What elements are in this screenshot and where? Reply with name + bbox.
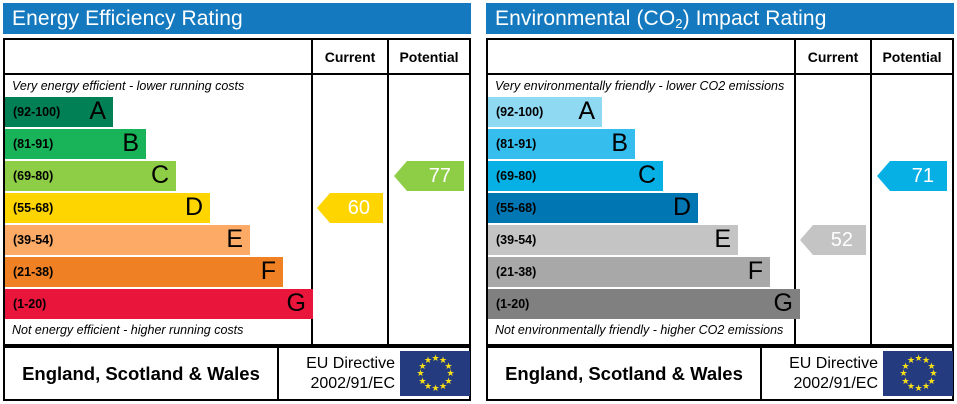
band-range-label: (55-68) — [13, 193, 53, 223]
column-divider — [387, 40, 389, 344]
eu-flag-star: ★ — [915, 385, 922, 392]
band-letter-label: G — [287, 289, 306, 319]
eu-flag-star: ★ — [432, 385, 439, 392]
eu-flag-star: ★ — [417, 370, 424, 377]
band-letter-label: E — [226, 225, 243, 255]
band-bar-d: (55-68)D — [488, 193, 698, 223]
column-header-current: Current — [313, 40, 387, 75]
band-bar-g: (1-20)G — [488, 289, 800, 319]
column-header-potential: Potential — [872, 40, 952, 75]
band-range-label: (39-54) — [13, 225, 53, 255]
band-bar-a: (92-100)A — [488, 97, 602, 127]
caption-top: Very energy efficient - lower running co… — [12, 79, 244, 93]
band-bar-e: (39-54)E — [488, 225, 738, 255]
footer-divider — [760, 348, 762, 399]
eu-flag: ★★★★★★★★★★★★ — [400, 351, 470, 396]
band-range-label: (21-38) — [496, 257, 536, 287]
potential-rating-arrow: 77 — [394, 161, 464, 191]
eu-flag-star: ★ — [922, 383, 929, 390]
current-rating-arrow: 60 — [317, 193, 383, 223]
footer-region-label: England, Scotland & Wales — [488, 348, 760, 399]
epc-chart-page: Energy Efficiency RatingCurrentPotential… — [0, 0, 957, 404]
potential-rating-arrow: 71 — [877, 161, 947, 191]
chart-title-epc: Energy Efficiency Rating — [3, 3, 471, 34]
band-range-label: (39-54) — [496, 225, 536, 255]
band-letter-label: A — [89, 97, 106, 127]
eu-flag-star: ★ — [439, 383, 446, 390]
rating-chart-co2: Environmental (CO2) Impact RatingCurrent… — [483, 0, 957, 404]
eu-flag-star: ★ — [907, 357, 914, 364]
band-range-label: (92-100) — [496, 97, 543, 127]
band-range-label: (81-91) — [496, 129, 536, 159]
rating-table-epc: CurrentPotentialVery energy efficient - … — [3, 38, 471, 346]
band-letter-label: B — [611, 129, 628, 159]
band-bar-e: (39-54)E — [5, 225, 250, 255]
band-range-label: (21-38) — [13, 257, 53, 287]
eu-flag-star: ★ — [915, 355, 922, 362]
column-header-potential: Potential — [389, 40, 469, 75]
eu-flag-star: ★ — [424, 357, 431, 364]
band-bar-f: (21-38)F — [5, 257, 283, 287]
footer-region-label: England, Scotland & Wales — [5, 348, 277, 399]
band-letter-label: F — [748, 257, 763, 287]
band-bars: (92-100)A(81-91)B(69-80)C(55-68)D(39-54)… — [5, 97, 309, 321]
band-letter-label: A — [578, 97, 595, 127]
band-bar-a: (92-100)A — [5, 97, 113, 127]
band-range-label: (69-80) — [13, 161, 53, 191]
eu-flag-star: ★ — [902, 378, 909, 385]
band-range-label: (69-80) — [496, 161, 536, 191]
directive-line-1: EU Directive — [306, 354, 395, 374]
band-bar-c: (69-80)C — [5, 161, 176, 191]
band-letter-label: B — [122, 129, 139, 159]
eu-flag-star: ★ — [900, 370, 907, 377]
caption-top: Very environmentally friendly - lower CO… — [495, 79, 784, 93]
column-divider — [870, 40, 872, 344]
rating-table-co2: CurrentPotentialVery environmentally fri… — [486, 38, 954, 346]
footer-divider — [277, 348, 279, 399]
caption-bottom: Not environmentally friendly - higher CO… — [495, 323, 783, 337]
band-letter-label: C — [638, 161, 656, 191]
directive-line-2: 2002/91/EC — [310, 374, 395, 394]
band-range-label: (81-91) — [13, 129, 53, 159]
band-letter-label: D — [185, 193, 203, 223]
band-bar-g: (1-20)G — [5, 289, 313, 319]
band-bar-b: (81-91)B — [488, 129, 635, 159]
band-range-label: (55-68) — [496, 193, 536, 223]
caption-bottom: Not energy efficient - higher running co… — [12, 323, 243, 337]
band-range-label: (1-20) — [496, 289, 529, 319]
directive-line-2: 2002/91/EC — [793, 374, 878, 394]
chart-footer: England, Scotland & WalesEU Directive200… — [486, 346, 954, 401]
rating-chart-epc: Energy Efficiency RatingCurrentPotential… — [0, 0, 474, 404]
band-bar-c: (69-80)C — [488, 161, 663, 191]
current-rating-arrow: 52 — [800, 225, 866, 255]
eu-flag-star: ★ — [432, 355, 439, 362]
band-bars: (92-100)A(81-91)B(69-80)C(55-68)D(39-54)… — [488, 97, 792, 321]
column-header-current: Current — [796, 40, 870, 75]
band-bar-f: (21-38)F — [488, 257, 770, 287]
footer-directive-label: EU Directive2002/91/EC — [764, 348, 882, 399]
chart-footer: England, Scotland & WalesEU Directive200… — [3, 346, 471, 401]
eu-flag-star: ★ — [419, 378, 426, 385]
eu-flag: ★★★★★★★★★★★★ — [883, 351, 953, 396]
band-letter-label: C — [151, 161, 169, 191]
band-bar-d: (55-68)D — [5, 193, 210, 223]
footer-directive-label: EU Directive2002/91/EC — [281, 348, 399, 399]
band-letter-label: D — [673, 193, 691, 223]
band-letter-label: G — [774, 289, 793, 319]
band-letter-label: F — [261, 257, 276, 287]
directive-line-1: EU Directive — [789, 354, 878, 374]
band-letter-label: E — [714, 225, 731, 255]
band-bar-b: (81-91)B — [5, 129, 146, 159]
chart-title-co2: Environmental (CO2) Impact Rating — [486, 3, 954, 34]
band-range-label: (1-20) — [13, 289, 46, 319]
band-range-label: (92-100) — [13, 97, 60, 127]
